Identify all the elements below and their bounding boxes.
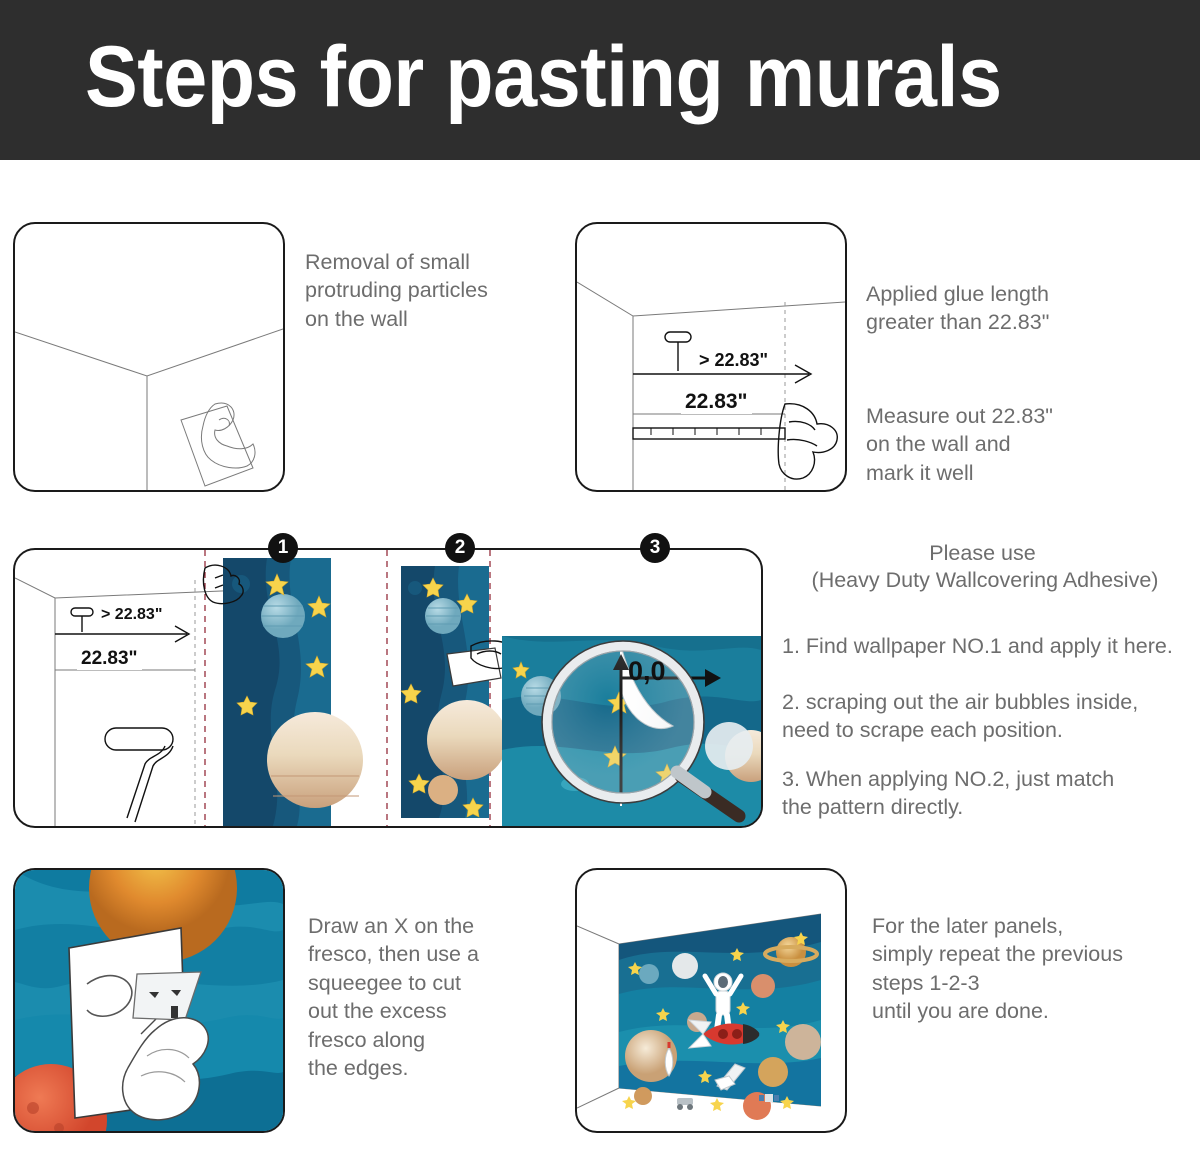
step-badge-2: 2 — [445, 533, 475, 563]
header-bar: Steps for pasting murals — [0, 0, 1200, 160]
page-title: Steps for pasting murals — [85, 34, 1002, 120]
apply-note-2: 2. scraping out the air bubbles inside, … — [782, 688, 1182, 745]
three-step-application-illustration — [15, 550, 761, 826]
finished-space-mural-illustration — [577, 870, 845, 1131]
step-badge-1: 1 — [268, 533, 298, 563]
measure-length-label: 22.83" — [681, 390, 752, 414]
glue-length-caption: Applied glue length greater than 22.83" — [866, 280, 1166, 337]
glue-measure-panel: > 22.83" 22.83" — [575, 222, 847, 492]
adhesive-note-line2: (Heavy Duty Wallcovering Adhesive) — [775, 568, 1195, 593]
trim-excess-caption: Draw an X on the fresco, then use a sque… — [308, 912, 568, 1082]
wall-prep-caption: Removal of small protruding particles on… — [305, 248, 555, 333]
strip-glue-length-label: > 22.83" — [101, 606, 162, 624]
repeat-panels-panel — [575, 868, 847, 1133]
repeat-panels-caption: For the later panels, simply repeat the … — [872, 912, 1200, 1026]
squeegee-trim-illustration — [15, 870, 283, 1131]
apply-note-1: 1. Find wallpaper NO.1 and apply it here… — [782, 632, 1182, 660]
origin-label: 0,0 — [628, 656, 666, 687]
glue-length-label: > 22.83" — [699, 350, 768, 371]
step-badge-3: 3 — [640, 533, 670, 563]
trim-excess-panel — [13, 868, 285, 1133]
strip-measure-length-label: 22.83" — [77, 648, 142, 670]
adhesive-note-line1: Please use — [775, 541, 1190, 566]
wall-prep-panel — [13, 222, 285, 492]
measure-wall-caption: Measure out 22.83" on the wall and mark … — [866, 402, 1166, 487]
apply-note-3: 3. When applying NO.2, just match the pa… — [782, 765, 1182, 822]
wall-corner-sandpaper-illustration — [15, 224, 283, 490]
apply-panels-strip: > 22.83" 22.83" 0,0 — [13, 548, 763, 828]
